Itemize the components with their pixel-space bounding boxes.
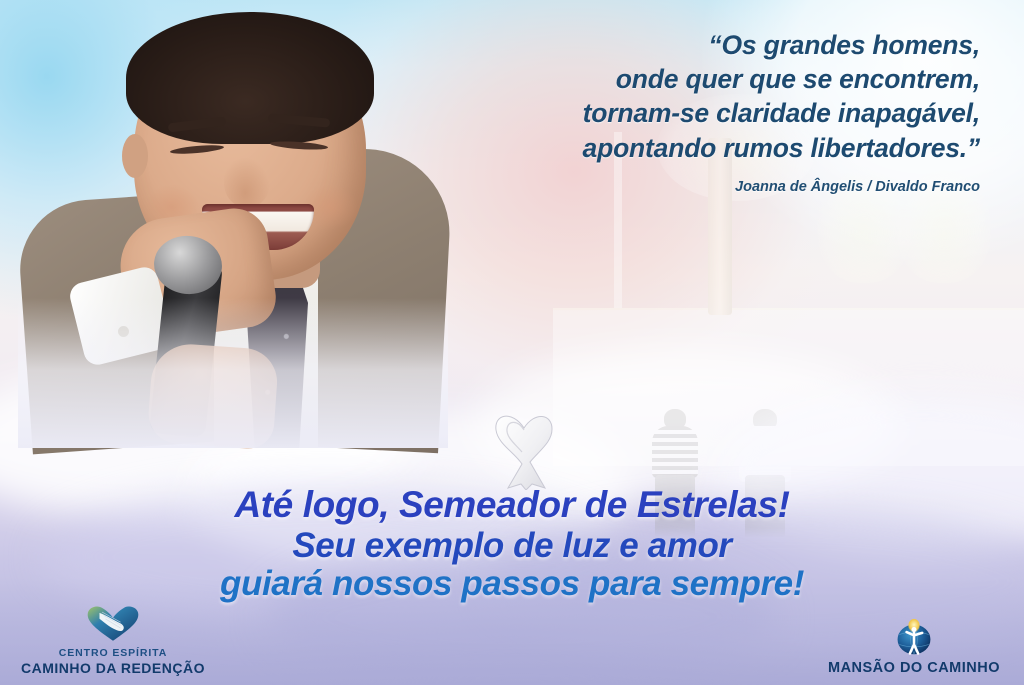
ear [122,134,148,178]
heart-hands-icon [8,603,218,645]
nose [224,158,270,208]
portrait-fade-out [18,298,448,448]
quote-line-2: onde quer que se encontrem, [420,62,980,96]
quote-line-4: apontando rumos libertadores.” [420,131,980,165]
tribute-banner: “Os grandes homens, onde quer que se enc… [0,0,1024,685]
hair [126,12,374,144]
headline-line-3: guiará nossos passos para sempre! [0,566,1024,602]
headline-line-1: Até logo, Semeador de Estrelas! [0,486,1024,524]
quote-line-3: tornam-se claridade inapagável, [420,96,980,130]
quote-author: Joanna de Ângelis / Divaldo Franco [420,179,980,195]
logo-centro-espirita: CENTRO ESPÍRITA CAMINHO DA REDENÇÃO [8,603,218,677]
quote-block: “Os grandes homens, onde quer que se enc… [420,28,980,195]
logo-right-line-2: MANSÃO DO CAMINHO [808,660,1020,677]
logo-left-line-2: CAMINHO DA REDENÇÃO [8,660,218,677]
logo-left-line-1: CENTRO ESPÍRITA [8,647,218,660]
quote-line-1: “Os grandes homens, [420,28,980,62]
white-ribbon-icon [488,406,560,490]
logo-mansao-do-caminho: MANSÃO DO CAMINHO [808,616,1020,677]
headline-line-2: Seu exemplo de luz e amor [0,528,1024,564]
portrait-photo [18,8,448,448]
globe-figure-icon [808,616,1020,658]
headline-block: Até logo, Semeador de Estrelas! Seu exem… [0,486,1024,602]
